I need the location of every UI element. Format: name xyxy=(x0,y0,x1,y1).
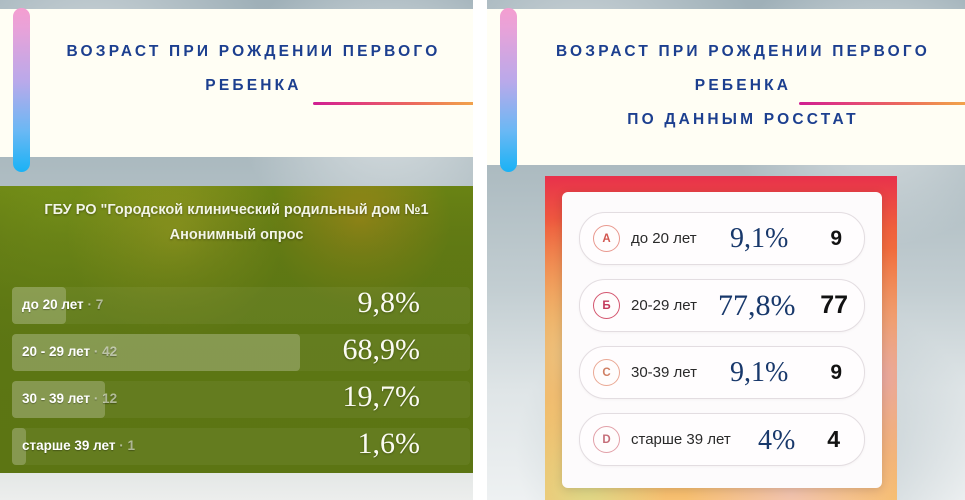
poll-subtitle: Анонимный опрос xyxy=(0,223,473,248)
poll-row-sep: · xyxy=(94,344,99,359)
table-row[interactable]: до 20 лет · 7 9,8% xyxy=(0,284,473,327)
poll-row-name: 20 - 29 лет xyxy=(22,344,90,359)
right-title-line-1: ВОЗРАСТ ПРИ РОЖДЕНИИ ПЕРВОГО xyxy=(531,35,955,69)
option-percent: 77,8% xyxy=(718,291,796,321)
poll-row-count: 1 xyxy=(128,438,136,453)
left-poll-block: ГБУ РО "Городской клинический родильный … xyxy=(0,186,473,473)
option-badge-b-icon: Б xyxy=(593,292,620,319)
poll-row-sep: · xyxy=(119,438,124,453)
table-row[interactable]: 20 - 29 лет · 42 68,9% xyxy=(0,331,473,374)
rosstat-option-list: A до 20 лет 9,1% 9 Б 20-29 лет 77,8% 77 … xyxy=(579,212,865,480)
list-item[interactable]: D старше 39 лет 4% 4 xyxy=(579,413,865,466)
poll-row-name: старше 39 лет xyxy=(22,438,116,453)
poll-heading: ГБУ РО "Городской клинический родильный … xyxy=(0,198,473,248)
left-slide-panel: ВОЗРАСТ ПРИ РОЖДЕНИИ ПЕРВОГО РЕБЕНКА ГБУ… xyxy=(0,0,473,500)
list-item[interactable]: C 30-39 лет 9,1% 9 xyxy=(579,346,865,399)
left-header-card: ВОЗРАСТ ПРИ РОЖДЕНИИ ПЕРВОГО РЕБЕНКА xyxy=(0,9,473,157)
right-photo-frame: A до 20 лет 9,1% 9 Б 20-29 лет 77,8% 77 … xyxy=(545,176,897,500)
left-header-title: ВОЗРАСТ ПРИ РОЖДЕНИИ ПЕРВОГО РЕБЕНКА xyxy=(44,35,463,103)
option-count: 77 xyxy=(820,291,848,320)
panel-gutter xyxy=(473,0,487,500)
option-percent: 9,1% xyxy=(730,359,788,387)
poll-row-label: до 20 лет · 7 xyxy=(22,297,103,312)
poll-row-name: до 20 лет xyxy=(22,297,84,312)
option-percent: 4% xyxy=(758,427,795,455)
option-count: 9 xyxy=(830,361,842,385)
option-badge-a-icon: A xyxy=(593,225,620,252)
poll-row-count: 12 xyxy=(102,391,117,406)
left-accent-pill-icon xyxy=(13,8,30,172)
right-gradient-rule xyxy=(799,102,965,105)
option-label: до 20 лет xyxy=(631,230,697,247)
left-gradient-rule xyxy=(313,102,473,105)
poll-row-label: 20 - 29 лет · 42 xyxy=(22,344,117,359)
option-count: 9 xyxy=(830,227,842,251)
option-label: 20-29 лет xyxy=(631,297,697,314)
right-title-line-3: ПО ДАННЫМ РОССТАТ xyxy=(531,103,955,137)
option-count: 4 xyxy=(827,426,840,453)
option-label: старше 39 лет xyxy=(631,431,731,448)
left-title-line-2: РЕБЕНКА xyxy=(44,69,463,103)
poll-row-count: 42 xyxy=(102,344,117,359)
poll-row-percent: 19,7% xyxy=(343,380,421,414)
option-label: 30-39 лет xyxy=(631,364,697,381)
right-header-title: ВОЗРАСТ ПРИ РОЖДЕНИИ ПЕРВОГО РЕБЕНКА ПО … xyxy=(531,35,955,137)
poll-row-label: 30 - 39 лет · 12 xyxy=(22,391,117,406)
right-accent-pill-icon xyxy=(500,8,517,172)
poll-row-sep: · xyxy=(87,297,92,312)
right-title-line-2: РЕБЕНКА xyxy=(531,69,955,103)
poll-row-name: 30 - 39 лет xyxy=(22,391,90,406)
poll-institution-name: ГБУ РО "Городской клинический родильный … xyxy=(44,202,428,218)
poll-row-count: 7 xyxy=(96,297,104,312)
rosstat-results-card: A до 20 лет 9,1% 9 Б 20-29 лет 77,8% 77 … xyxy=(562,192,882,488)
poll-rows: до 20 лет · 7 9,8% 20 - 29 лет · 42 xyxy=(0,284,473,472)
table-row[interactable]: 30 - 39 лет · 12 19,7% xyxy=(0,378,473,421)
list-item[interactable]: A до 20 лет 9,1% 9 xyxy=(579,212,865,265)
option-percent: 9,1% xyxy=(730,225,788,253)
slide-comparison-stage: ВОЗРАСТ ПРИ РОЖДЕНИИ ПЕРВОГО РЕБЕНКА ГБУ… xyxy=(0,0,965,500)
option-badge-d-icon: D xyxy=(593,426,620,453)
poll-row-percent: 9,8% xyxy=(358,286,421,320)
poll-row-percent: 68,9% xyxy=(343,333,421,367)
list-item[interactable]: Б 20-29 лет 77,8% 77 xyxy=(579,279,865,332)
poll-row-percent: 1,6% xyxy=(358,427,421,461)
left-footer-strip xyxy=(0,473,473,500)
left-title-line-1: ВОЗРАСТ ПРИ РОЖДЕНИИ ПЕРВОГО xyxy=(44,35,463,69)
option-badge-c-icon: C xyxy=(593,359,620,386)
poll-row-sep: · xyxy=(94,391,99,406)
right-header-card: ВОЗРАСТ ПРИ РОЖДЕНИИ ПЕРВОГО РЕБЕНКА ПО … xyxy=(487,9,965,165)
table-row[interactable]: старше 39 лет · 1 1,6% xyxy=(0,425,473,468)
right-slide-panel: ВОЗРАСТ ПРИ РОЖДЕНИИ ПЕРВОГО РЕБЕНКА ПО … xyxy=(487,0,965,500)
poll-row-label: старше 39 лет · 1 xyxy=(22,438,135,453)
